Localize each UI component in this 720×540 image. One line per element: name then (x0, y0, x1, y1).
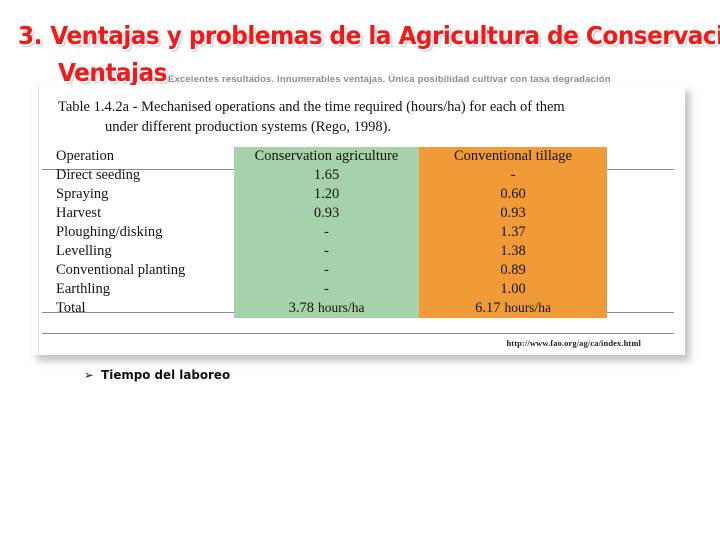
cell-conservation: 1.65 (234, 166, 419, 185)
cell-spacer (607, 261, 674, 280)
cell-conservation: - (234, 261, 419, 280)
table-caption-line-1: Table 1.4.2a - Mechanised operations and… (58, 99, 565, 115)
slide-subheading: Ventajas (58, 58, 167, 88)
total-conventional-units: hours/ha (500, 300, 551, 315)
table-row: Levelling - 1.38 (42, 242, 674, 261)
slide-title-text: Ventajas y problemas de la Agricultura d… (50, 21, 720, 50)
cell-conventional: 0.60 (419, 185, 607, 204)
table-row: Spraying 1.20 0.60 (42, 185, 674, 204)
table-row: Conventional planting - 0.89 (42, 261, 674, 280)
total-conservation-value: 3.78 (289, 300, 314, 316)
table-rule-bottom (42, 333, 674, 334)
slide-canvas: 3.Ventajas y problemas de la Agricultura… (0, 0, 720, 540)
cell-conventional: - (419, 166, 607, 185)
table-panel: Table 1.4.2a - Mechanised operations and… (32, 85, 685, 355)
cell-spacer (607, 223, 674, 242)
table-row: Earthling - 1.00 (42, 280, 674, 299)
slide-number: 3. (18, 20, 42, 51)
total-conventional-value: 6.17 (475, 300, 500, 316)
list-item: ➢ Tiempo del laboreo (84, 367, 230, 382)
cell-operation: Earthling (42, 280, 234, 299)
cell-operation: Conventional planting (42, 261, 234, 280)
source-url[interactable]: http://www.fao.org/ag/ca/index.html (506, 338, 641, 348)
table-row: Harvest 0.93 0.93 (42, 204, 674, 223)
cell-conservation: - (234, 280, 419, 299)
table-body: Direct seeding 1.65 - Spraying 1.20 0.60… (42, 166, 674, 318)
cell-conventional: 0.89 (419, 261, 607, 280)
arrow-bullet-icon: ➢ (84, 369, 94, 381)
table-caption: Table 1.4.2a - Mechanised operations and… (58, 97, 668, 137)
cell-conventional: 0.93 (419, 204, 607, 223)
cell-total-conventional: 6.17hours/ha (419, 299, 607, 318)
cell-operation: Levelling (42, 242, 234, 261)
column-header-spacer (607, 147, 674, 166)
column-header-conservation: Conservation agriculture (234, 147, 419, 166)
cell-operation: Direct seeding (42, 166, 234, 185)
cell-operation: Ploughing/disking (42, 223, 234, 242)
cell-total-conservation: 3.78hours/ha (234, 299, 419, 318)
cell-conventional: 1.37 (419, 223, 607, 242)
cell-spacer (607, 242, 674, 261)
table-header-row: Operation Conservation agriculture Conve… (42, 147, 674, 166)
page-title: 3.Ventajas y problemas de la Agricultura… (18, 20, 660, 51)
cell-conservation: 1.20 (234, 185, 419, 204)
cell-total-label: Total (42, 299, 234, 318)
cell-operation: Spraying (42, 185, 234, 204)
column-header-operation: Operation (42, 147, 234, 166)
total-conservation-units: hours/ha (314, 300, 365, 315)
table-caption-line-2: under different production systems (Rego… (58, 117, 668, 137)
cell-conservation: 0.93 (234, 204, 419, 223)
cell-spacer (607, 185, 674, 204)
cell-conventional: 1.38 (419, 242, 607, 261)
cell-spacer (607, 280, 674, 299)
cell-spacer (607, 204, 674, 223)
cell-spacer (607, 299, 674, 318)
cell-conventional: 1.00 (419, 280, 607, 299)
table-row: Ploughing/disking - 1.37 (42, 223, 674, 242)
cell-conservation: - (234, 242, 419, 261)
column-header-conventional: Conventional tillage (419, 147, 607, 166)
table-total-row: Total 3.78hours/ha 6.17hours/ha (42, 299, 674, 318)
cell-conservation: - (234, 223, 419, 242)
table-row: Direct seeding 1.65 - (42, 166, 674, 185)
cell-operation: Harvest (42, 204, 234, 223)
cell-spacer (607, 166, 674, 185)
mechanised-operations-table: Operation Conservation agriculture Conve… (42, 147, 674, 318)
list-item-label: Tiempo del laboreo (101, 367, 230, 382)
table-head: Operation Conservation agriculture Conve… (42, 147, 674, 166)
